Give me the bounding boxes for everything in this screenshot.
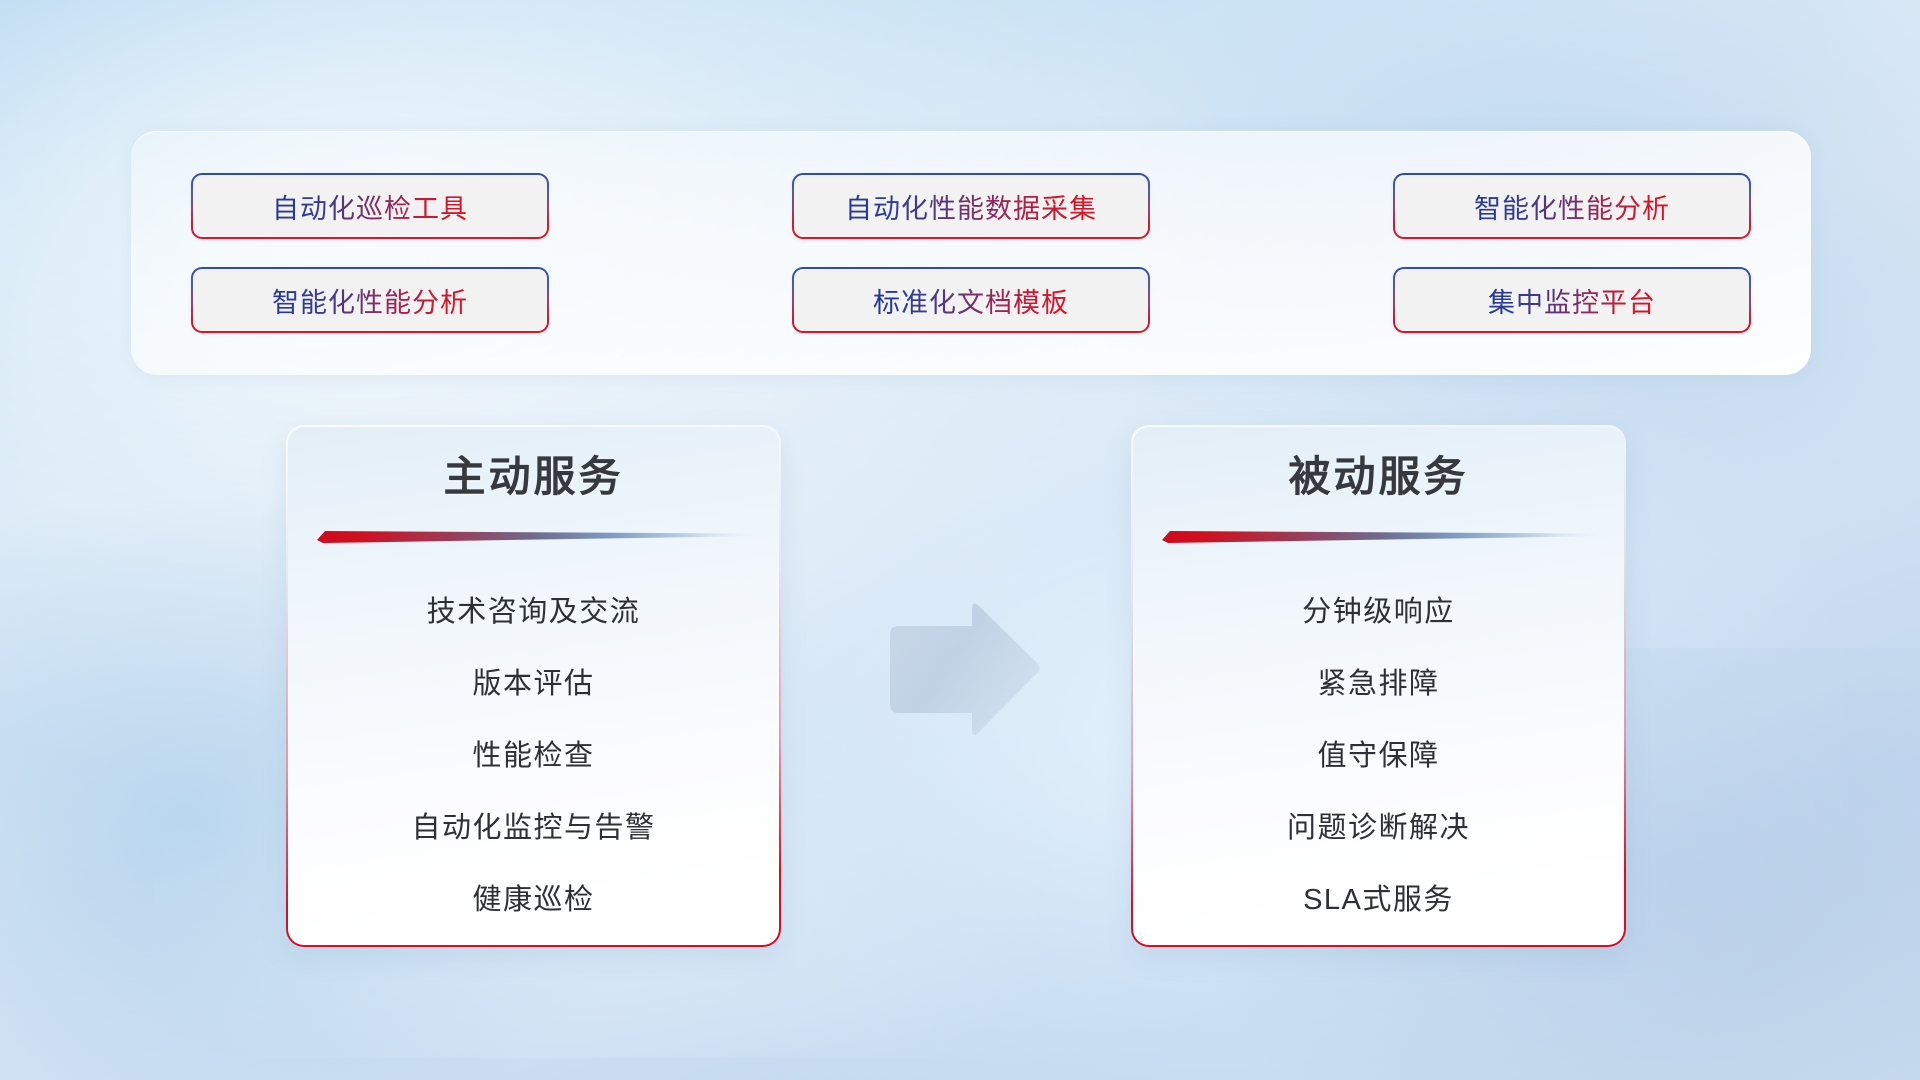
service-list-item: 技术咨询及交流: [427, 576, 641, 648]
capability-pill-label: 集中监控平台: [1488, 281, 1656, 320]
gradient-divider-icon: [317, 524, 751, 546]
service-list-item: 紧急排障: [1317, 648, 1439, 720]
capability-panel: 自动化巡检工具 自动化性能数据采集 智能化性能分析 智能化性能分析 标准化文档模…: [131, 131, 1811, 375]
service-list-item: 自动化监控与告警: [411, 792, 655, 864]
capability-pill-centralized-monitoring-platform[interactable]: 集中监控平台: [1393, 267, 1751, 333]
service-card-title: 主动服务: [443, 451, 623, 504]
service-card-content: 主动服务: [286, 425, 781, 947]
service-list-item: 性能检查: [472, 720, 594, 792]
capability-pill-automation-inspection-tool[interactable]: 自动化巡检工具: [191, 173, 549, 239]
capability-pill-label: 自动化性能数据采集: [845, 187, 1097, 226]
service-card-content: 被动服务: [1131, 425, 1626, 947]
service-list-item: 版本评估: [472, 648, 594, 720]
service-list-item: 健康巡检: [472, 864, 594, 936]
capability-pill-label: 智能化性能分析: [1474, 187, 1670, 226]
service-list-item: SLA式服务: [1303, 864, 1454, 936]
service-card-list: 技术咨询及交流 版本评估 性能检查 自动化监控与告警 健康巡检: [286, 576, 781, 936]
capability-pill-label: 标准化文档模板: [873, 281, 1069, 320]
service-card-proactive[interactable]: 主动服务: [286, 425, 781, 947]
service-card-reactive[interactable]: 被动服务: [1131, 425, 1626, 947]
service-card-list: 分钟级响应 紧急排障 值守保障 问题诊断解决 SLA式服务: [1131, 576, 1626, 936]
capability-pill-intelligent-performance-analysis-a[interactable]: 智能化性能分析: [1393, 173, 1751, 239]
capability-pill-label: 智能化性能分析: [272, 281, 468, 320]
service-card-title: 被动服务: [1288, 451, 1468, 504]
service-list-item: 值守保障: [1317, 720, 1439, 792]
capability-pill-intelligent-performance-analysis-b[interactable]: 智能化性能分析: [191, 267, 549, 333]
service-list-item: 问题诊断解决: [1287, 792, 1470, 864]
capability-pill-automation-performance-data-collection[interactable]: 自动化性能数据采集: [792, 173, 1150, 239]
service-list-item: 分钟级响应: [1302, 576, 1455, 648]
capability-row-2: 智能化性能分析 标准化文档模板 集中监控平台: [191, 267, 1751, 333]
capability-pill-label: 自动化巡检工具: [272, 187, 468, 226]
arrow-right-icon: [876, 601, 1044, 739]
capability-pill-standardized-document-template[interactable]: 标准化文档模板: [792, 267, 1150, 333]
slide-canvas: 自动化巡检工具 自动化性能数据采集 智能化性能分析 智能化性能分析 标准化文档模…: [0, 0, 1920, 1080]
gradient-divider-icon: [1162, 524, 1596, 546]
capability-row-1: 自动化巡检工具 自动化性能数据采集 智能化性能分析: [191, 173, 1751, 239]
